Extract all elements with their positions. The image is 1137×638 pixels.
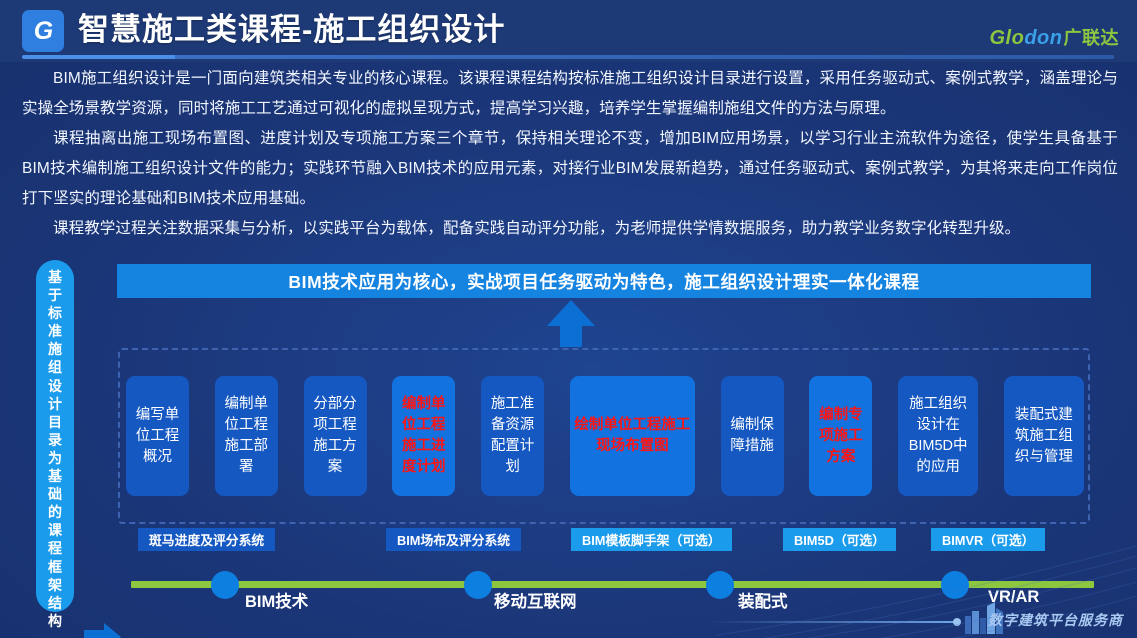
page-header: G 智慧施工类课程-施工组织设计 Glodon广联达 bbox=[0, 0, 1137, 62]
framework-banner: BIM技术应用为核心，实战项目任务驱动为特色，施工组织设计理实一体化课程 bbox=[117, 264, 1091, 298]
course-description: BIM施工组织设计是一门面向建筑类相关专业的核心课程。该课程课程结构按标准施工组… bbox=[22, 64, 1118, 244]
module-card-label: 施工组织设计在BIM5D中的应用 bbox=[902, 394, 974, 478]
module-card[interactable]: 施工组织设计在BIM5D中的应用 bbox=[898, 376, 978, 496]
brand-glo: Glo bbox=[990, 27, 1025, 49]
page-footer: 数字建筑平台服务商 bbox=[0, 594, 1137, 638]
course-framework-diagram: 基于标准施组设计目录为基础的课程框架结构 BIM技术应用为核心，实战项目任务驱动… bbox=[0, 252, 1137, 638]
module-card[interactable]: 编制保障措施 bbox=[721, 376, 784, 496]
footer-slogan: 数字建筑平台服务商 bbox=[988, 610, 1123, 630]
module-card-label: 编制保障措施 bbox=[725, 415, 780, 457]
module-card[interactable]: 绘制单位工程施工现场布置图 bbox=[570, 376, 695, 496]
paragraph-3: 课程教学过程关注数据采集与分析，以实践平台为载体，配备实践自动评分功能，为老师提… bbox=[22, 214, 1118, 244]
software-tag-list: 斑马进度及评分系统BIM场布及评分系统BIM模板脚手架（可选）BIM5D（可选）… bbox=[0, 528, 1137, 554]
logo-letter: G bbox=[34, 17, 52, 46]
module-card[interactable]: 装配式建筑施工组织与管理 bbox=[1004, 376, 1084, 496]
module-card[interactable]: 编制专项施工方案 bbox=[809, 376, 872, 496]
software-tag[interactable]: BIMVR（可选） bbox=[931, 528, 1045, 551]
software-tag[interactable]: BIM5D（可选） bbox=[783, 528, 896, 551]
module-card-list: 编写单位工程概况编制单位工程施工部署分部分项工程施工方案编制单位工程施工进度计划… bbox=[126, 352, 1084, 520]
module-card-label: 装配式建筑施工组织与管理 bbox=[1008, 405, 1080, 468]
brand-wordmark: Glodon广联达 bbox=[990, 24, 1120, 50]
module-card[interactable]: 分部分项工程施工方案 bbox=[304, 376, 367, 496]
brand-chinese: 广联达 bbox=[1064, 28, 1120, 48]
module-card[interactable]: 编写单位工程概况 bbox=[126, 376, 189, 496]
software-tag[interactable]: BIM场布及评分系统 bbox=[386, 528, 521, 551]
module-card-label: 绘制单位工程施工现场布置图 bbox=[574, 415, 691, 457]
page-title: 智慧施工类课程-施工组织设计 bbox=[78, 6, 505, 54]
module-card-label: 编制单位工程施工进度计划 bbox=[396, 394, 451, 478]
module-card-label: 分部分项工程施工方案 bbox=[308, 394, 363, 478]
software-tag[interactable]: 斑马进度及评分系统 bbox=[138, 528, 275, 551]
paragraph-2: 课程抽离出施工现场布置图、进度计划及专项施工方案三个章节，保持相关理论不变，增加… bbox=[22, 124, 1118, 214]
software-tag[interactable]: BIM模板脚手架（可选） bbox=[571, 528, 732, 551]
module-card-label: 编制专项施工方案 bbox=[813, 405, 868, 468]
header-divider bbox=[22, 55, 1114, 59]
paragraph-1: BIM施工组织设计是一门面向建筑类相关专业的核心课程。该课程课程结构按标准施工组… bbox=[22, 64, 1118, 124]
module-card-label: 编写单位工程概况 bbox=[130, 405, 185, 468]
brand-don: don bbox=[1024, 27, 1062, 49]
module-card-label: 施工准备资源配置计划 bbox=[485, 394, 540, 478]
footer-accent-dot bbox=[953, 618, 961, 626]
module-card[interactable]: 编制单位工程施工进度计划 bbox=[392, 376, 455, 496]
module-card-label: 编制单位工程施工部署 bbox=[219, 394, 274, 478]
footer-accent-line bbox=[707, 621, 957, 623]
glodon-logo-icon: G bbox=[22, 10, 64, 52]
module-card[interactable]: 施工准备资源配置计划 bbox=[481, 376, 544, 496]
framework-vertical-label: 基于标准施组设计目录为基础的课程框架结构 bbox=[36, 260, 74, 612]
module-card[interactable]: 编制单位工程施工部署 bbox=[215, 376, 278, 496]
